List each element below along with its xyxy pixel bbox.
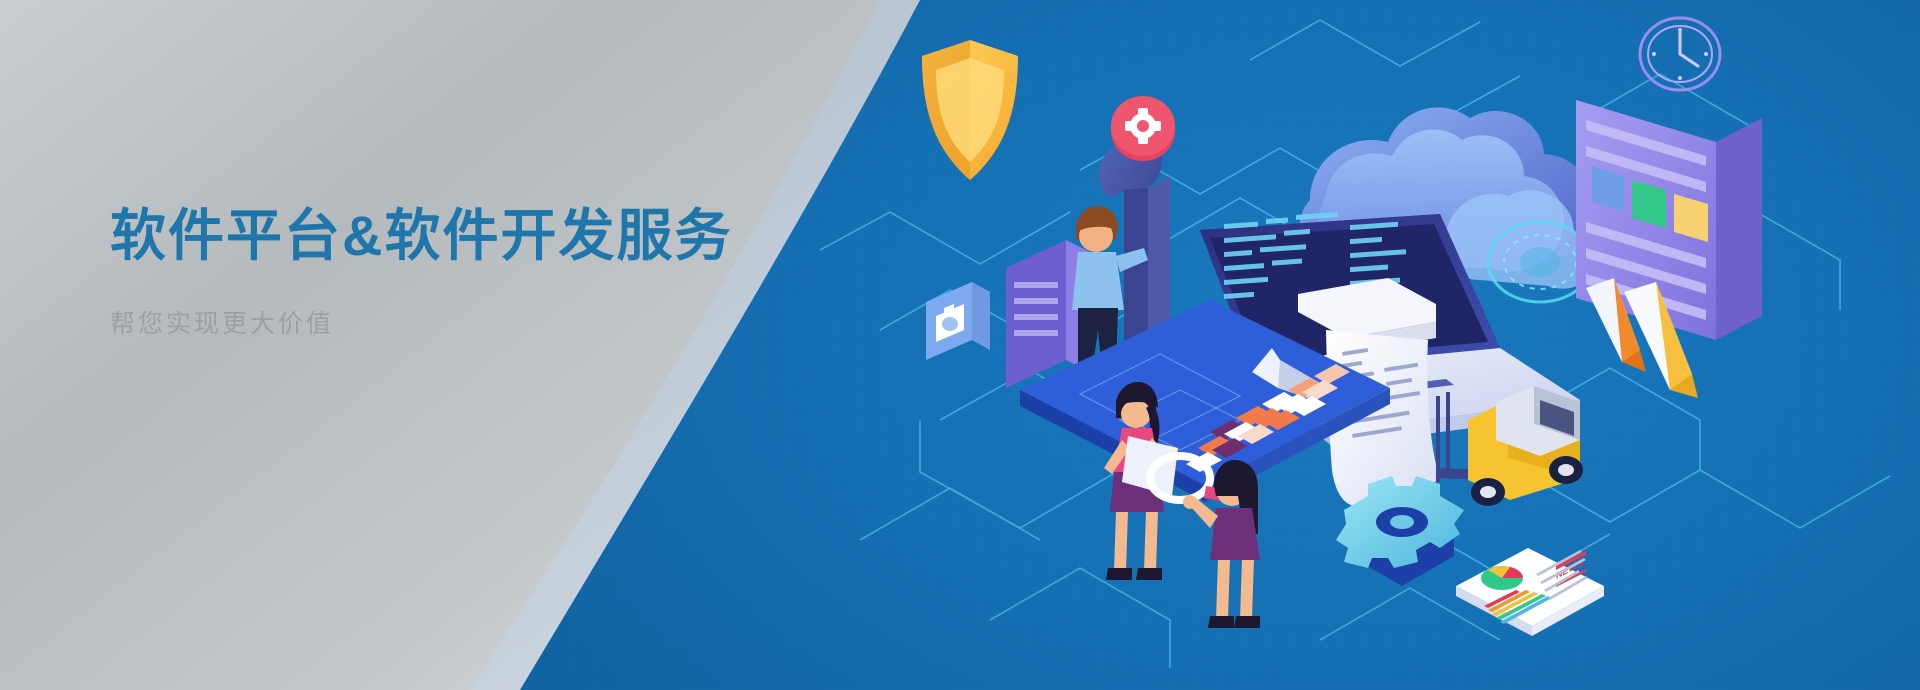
gear-badge-icon xyxy=(1111,96,1175,161)
page-subtitle: 帮您实现更大价值 xyxy=(110,309,870,339)
news-report-card: NEWS xyxy=(1456,548,1604,636)
hero-banner: 软件平台&软件开发服务 帮您实现更大价值 xyxy=(0,0,1920,690)
clock-icon xyxy=(1640,18,1720,90)
page-title: 软件平台&软件开发服务 xyxy=(110,205,870,267)
pie-chart-icon xyxy=(1481,566,1523,590)
shield-icon xyxy=(922,40,1018,180)
camera-icon xyxy=(926,282,990,360)
hero-text-block: 软件平台&软件开发服务 帮您实现更大价值 xyxy=(110,205,870,339)
background-gray-swoosh xyxy=(0,0,1000,690)
hero-illustration: NEWS xyxy=(880,0,1920,690)
